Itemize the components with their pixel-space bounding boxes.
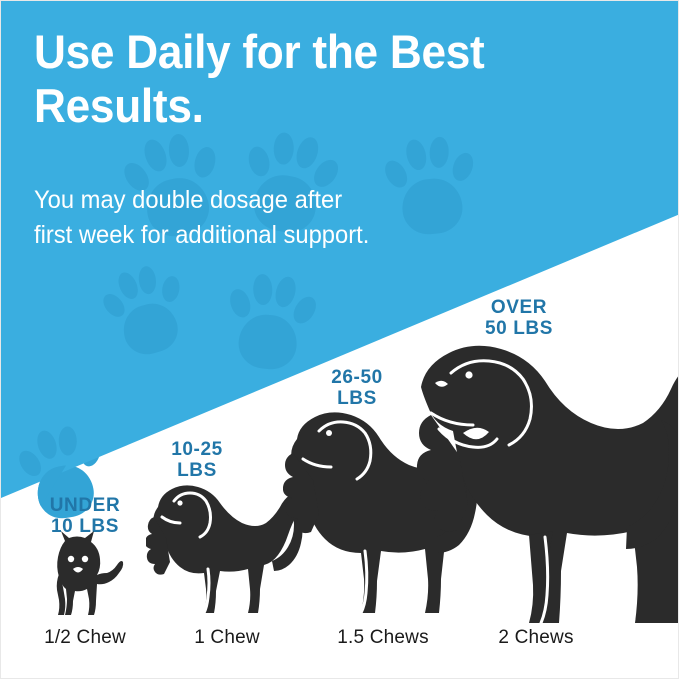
headline: Use Daily for the Best Results. xyxy=(34,25,560,133)
dose-label-over-50: 2 Chews xyxy=(498,627,573,649)
dosage-infographic: Use Daily for the Best Results. You may … xyxy=(0,0,679,679)
dog-silhouette-chihuahua xyxy=(39,529,131,619)
dose-label-under-10: 1/2 Chew xyxy=(44,627,126,649)
dog-silhouette-newfoundland xyxy=(403,331,679,623)
dose-label-26-50: 1.5 Chews xyxy=(337,627,429,649)
dose-label-10-25: 1 Chew xyxy=(194,627,260,649)
subheadline: You may double dosage after first week f… xyxy=(34,183,528,252)
